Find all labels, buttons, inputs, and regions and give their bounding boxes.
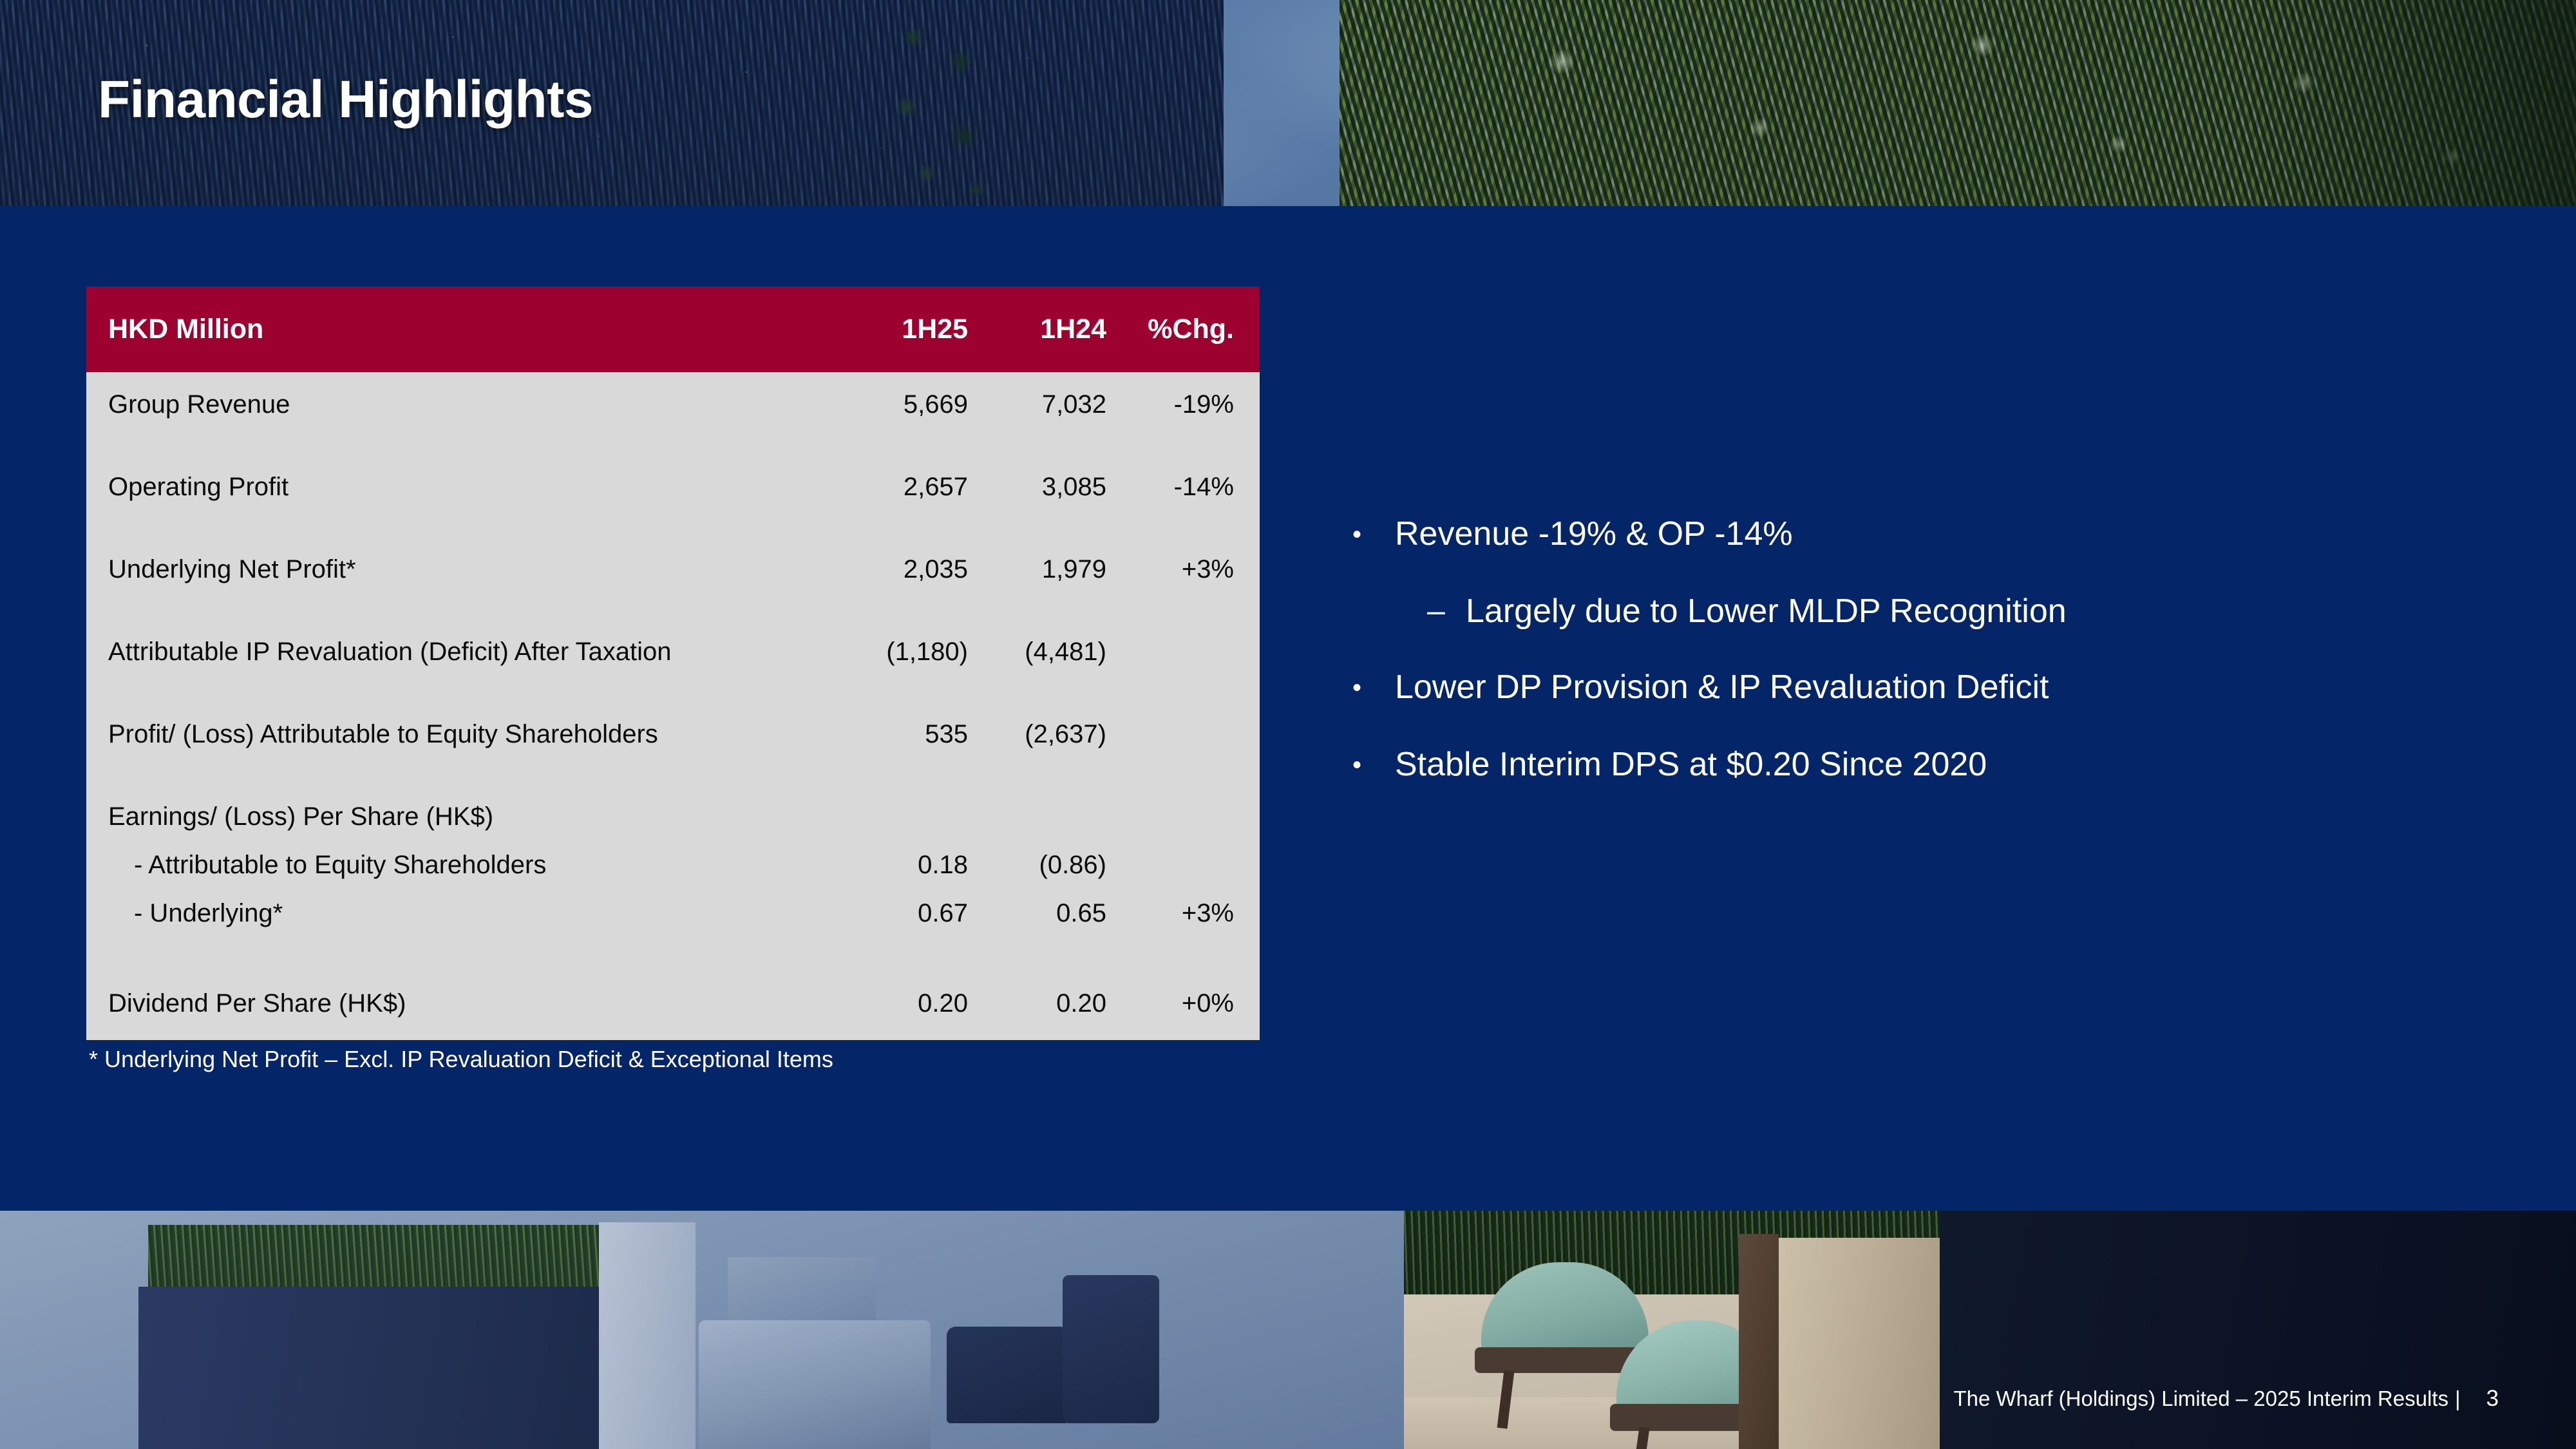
slide-footer: The Wharf (Holdings) Limited – 2025 Inte… — [1953, 1386, 2499, 1412]
row-value-1h25: 5,669 — [817, 390, 968, 419]
table-footnote: * Underlying Net Profit – Excl. IP Reval… — [89, 1046, 833, 1073]
row-value-1h24: (0.86) — [968, 851, 1106, 880]
footer-page-number: 3 — [2486, 1386, 2499, 1412]
row-value-1h25: 0.67 — [817, 899, 968, 928]
bullet-dot-icon: • — [1352, 746, 1395, 784]
bottom-banner-image — [0, 1211, 2576, 1449]
bullet-dot-icon: • — [1352, 668, 1395, 707]
column-header-pct-change: %Chg. — [1106, 314, 1234, 345]
row-value-1h25: 0.20 — [817, 989, 968, 1018]
row-value-1h25: 2,035 — [817, 555, 968, 584]
footer-company-line: The Wharf (Holdings) Limited – 2025 Inte… — [1953, 1387, 2448, 1411]
column-header-1h24: 1H24 — [968, 314, 1106, 345]
highlights-bullet-list: • Revenue -19% & OP -14% – Largely due t… — [1352, 515, 2512, 823]
table-row: Earnings/ (Loss) Per Share (HK$) — [108, 802, 1234, 851]
page-title: Financial Highlights — [98, 70, 593, 130]
row-value-1h24: 0.20 — [968, 989, 1106, 1018]
lounge-post — [1739, 1234, 1779, 1449]
table-row: Attributable IP Revaluation (Deficit) Af… — [108, 638, 1234, 720]
column-header-1h25: 1H25 — [817, 314, 968, 345]
table-row: - Attributable to Equity Shareholders 0.… — [108, 851, 1234, 899]
table-row: Operating Profit 2,657 3,085 -14% — [108, 473, 1234, 555]
table-row: - Underlying* 0.67 0.65 +3% — [108, 899, 1234, 947]
terrace-planter — [138, 1287, 602, 1449]
row-label: Operating Profit — [108, 473, 817, 502]
row-label: - Attributable to Equity Shareholders — [108, 851, 817, 880]
row-value-1h24: 0.65 — [968, 899, 1106, 928]
table-header-row: HKD Million 1H25 1H24 %Chg. — [86, 287, 1260, 372]
table-row: Profit/ (Loss) Attributable to Equity Sh… — [108, 720, 1234, 802]
table-row: Group Revenue 5,669 7,032 -19% — [108, 390, 1234, 473]
table-row: Dividend Per Share (HK$) 0.20 0.20 +0% — [108, 947, 1234, 1018]
sub-bullet-text: Largely due to Lower MLDP Recognition — [1466, 592, 2512, 631]
footer-separator: | — [2455, 1387, 2461, 1411]
bullet-item: • Stable Interim DPS at $0.20 Since 2020 — [1352, 746, 2512, 784]
row-value-1h24: 3,085 — [968, 473, 1106, 502]
row-value-1h25: (1,180) — [817, 638, 968, 667]
lounge-dark-area — [1940, 1211, 2576, 1449]
row-label: Dividend Per Share (HK$) — [108, 989, 817, 1018]
terrace-grass — [148, 1225, 612, 1293]
row-value-1h25: 0.18 — [817, 851, 968, 880]
bullet-text: Stable Interim DPS at $0.20 Since 2020 — [1395, 746, 2512, 784]
row-value-change: -19% — [1106, 390, 1234, 419]
bullet-text: Lower DP Provision & IP Revaluation Defi… — [1395, 668, 2512, 707]
row-label: Group Revenue — [108, 390, 817, 419]
terrace-stool-a — [947, 1327, 1069, 1423]
bullet-dash-icon: – — [1427, 592, 1466, 630]
row-label: Underlying Net Profit* — [108, 555, 817, 584]
row-value-change: +3% — [1106, 899, 1234, 928]
column-header-metric: HKD Million — [108, 314, 817, 345]
lounge-panel — [1779, 1238, 1940, 1449]
bullet-dot-icon: • — [1352, 515, 1395, 554]
row-value-1h25: 2,657 — [817, 473, 968, 502]
lounge-photo — [1404, 1211, 2576, 1449]
foliage-photo — [1340, 0, 2576, 206]
terrace-wall — [599, 1222, 696, 1449]
row-label: Profit/ (Loss) Attributable to Equity Sh… — [108, 720, 817, 749]
mid-tree-silhouette — [863, 0, 1030, 206]
bullet-item: • Revenue -19% & OP -14% — [1352, 515, 2512, 554]
row-value-change: -14% — [1106, 473, 1234, 502]
row-value-1h24: 7,032 — [968, 390, 1106, 419]
row-label: Attributable IP Revaluation (Deficit) Af… — [108, 638, 817, 667]
row-label: Earnings/ (Loss) Per Share (HK$) — [108, 802, 817, 831]
row-value-change: +3% — [1106, 555, 1234, 584]
slide-canvas: Financial Highlights HKD Million 1H25 1H… — [0, 0, 2576, 1449]
financial-table: HKD Million 1H25 1H24 %Chg. Group Revenu… — [86, 287, 1260, 1040]
bullet-item: • Lower DP Provision & IP Revaluation De… — [1352, 668, 2512, 707]
table-body: Group Revenue 5,669 7,032 -19% Operating… — [86, 372, 1260, 1040]
row-value-1h24: (2,637) — [968, 720, 1106, 749]
terrace-stool-b — [1063, 1275, 1159, 1423]
row-value-1h25: 535 — [817, 720, 968, 749]
row-label: - Underlying* — [108, 899, 817, 928]
bullet-text: Revenue -19% & OP -14% — [1395, 515, 2512, 554]
terrace-sofa — [699, 1320, 931, 1449]
row-value-1h24: 1,979 — [968, 555, 1106, 584]
row-value-change: +0% — [1106, 989, 1234, 1018]
table-row: Underlying Net Profit* 2,035 1,979 +3% — [108, 555, 1234, 638]
row-value-1h24: (4,481) — [968, 638, 1106, 667]
foliage-shadow-edge — [2241, 0, 2576, 206]
sub-bullet-item: – Largely due to Lower MLDP Recognition — [1427, 592, 2512, 631]
